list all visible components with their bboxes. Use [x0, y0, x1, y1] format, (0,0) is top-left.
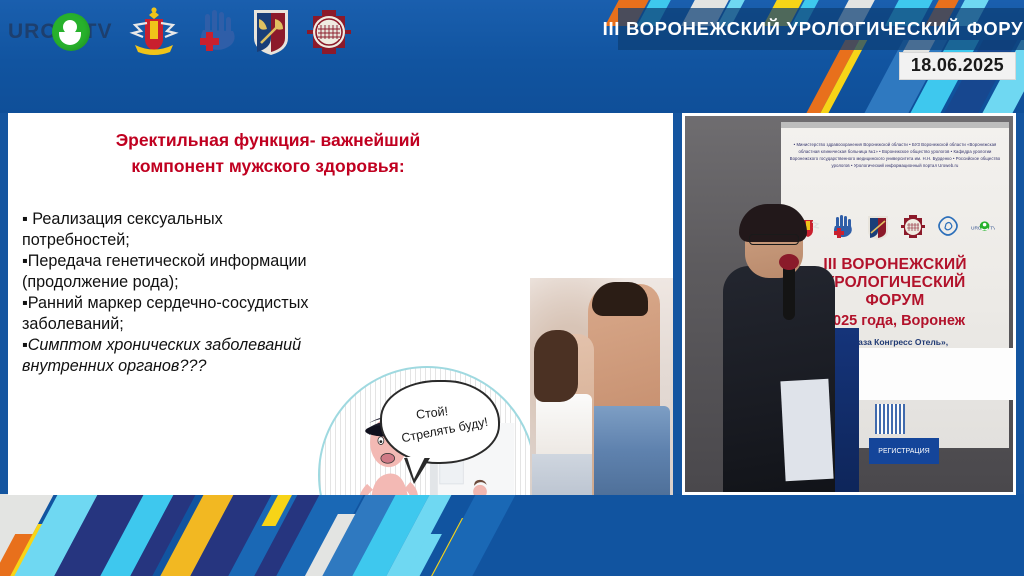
photo-woman-skirt — [532, 454, 592, 495]
presentation-stage: URO TV — [0, 0, 1024, 576]
date-text: 18.06.2025 — [911, 55, 1004, 75]
slide-bullet-list: ▪ Реализация сексуальных потребностей; ▪… — [22, 209, 310, 378]
slide-title-line1: Эректильная функция- важнейший — [116, 130, 421, 150]
bullet-item: ▪ Реализация сексуальных потребностей; — [22, 209, 310, 251]
forum-title-text: III ВОРОНЕЖСКИЙ УРОЛОГИЧЕСКИЙ ФОРУМ — [603, 18, 1024, 40]
microphone-head-icon — [779, 254, 799, 270]
projection-urotv-logo: URO TV — [971, 214, 995, 240]
photo-man-hair — [592, 282, 648, 316]
shield-emblem-logo — [251, 7, 291, 57]
date-badge: 18.06.2025 — [899, 52, 1016, 80]
voronezh-coat-of-arms — [127, 7, 181, 57]
svg-text:TV: TV — [990, 225, 995, 231]
photo-woman-top — [536, 394, 592, 460]
projection-shield-logo — [866, 214, 890, 240]
footer-decoration — [0, 494, 1024, 576]
bullet-item: ▪Передача генетической информации (продо… — [22, 251, 310, 293]
video-frame: • Министерство здравоохранения Воронежск… — [685, 116, 1013, 492]
couple-photo — [530, 278, 673, 495]
speaker-papers — [780, 379, 833, 481]
speech-bubble: Стой! Стрелять буду! — [380, 380, 500, 464]
projection-round-logo — [901, 214, 925, 240]
round-red-emblem-logo — [305, 8, 353, 56]
registration-stand-badge: РЕГИСТРАЦИЯ — [869, 438, 939, 464]
sponsor-logo-row: URO TV — [8, 6, 353, 58]
speaker-figure — [717, 204, 839, 492]
bullet-item: ▪Ранний маркер сердечно-сосудистых забол… — [22, 293, 310, 335]
photo-woman-hair — [534, 330, 578, 402]
slide-title-line2: компонент мужского здоровья: — [8, 153, 528, 179]
bullet-item: ▪Симптом хронических заболеваний внутрен… — [22, 335, 310, 377]
speech-bubble-line1: Стой! — [415, 404, 448, 422]
blue-hand-medical-logo — [195, 8, 237, 56]
photo-jeans — [588, 406, 670, 495]
slide-panel: Эректильная функция- важнейший компонент… — [8, 113, 673, 495]
urotv-globe-icon — [52, 13, 90, 51]
header-band: URO TV — [0, 0, 1024, 113]
speech-bubble-line2: Стрелять буду! — [401, 416, 490, 446]
urotv-logo: URO TV — [8, 8, 113, 56]
qr-code — [875, 404, 905, 434]
speaker-glasses — [749, 234, 799, 245]
slide-title: Эректильная функция- важнейший компонент… — [8, 127, 528, 180]
video-panel[interactable]: • Министерство здравоохранения Воронежск… — [682, 113, 1016, 495]
projection-organizers-text: • Министерство здравоохранения Воронежск… — [787, 142, 1003, 170]
forum-title-banner: III ВОРОНЕЖСКИЙ УРОЛОГИЧЕСКИЙ ФОРУМ — [618, 8, 1024, 50]
speech-bubble-tail — [404, 458, 430, 484]
microphone — [783, 262, 795, 320]
urotv-logo-text-left: URO — [8, 20, 58, 44]
cartoon-illustration: Стой! Стрелять буду! — [318, 366, 536, 495]
projection-uroweb-logo — [936, 214, 960, 240]
